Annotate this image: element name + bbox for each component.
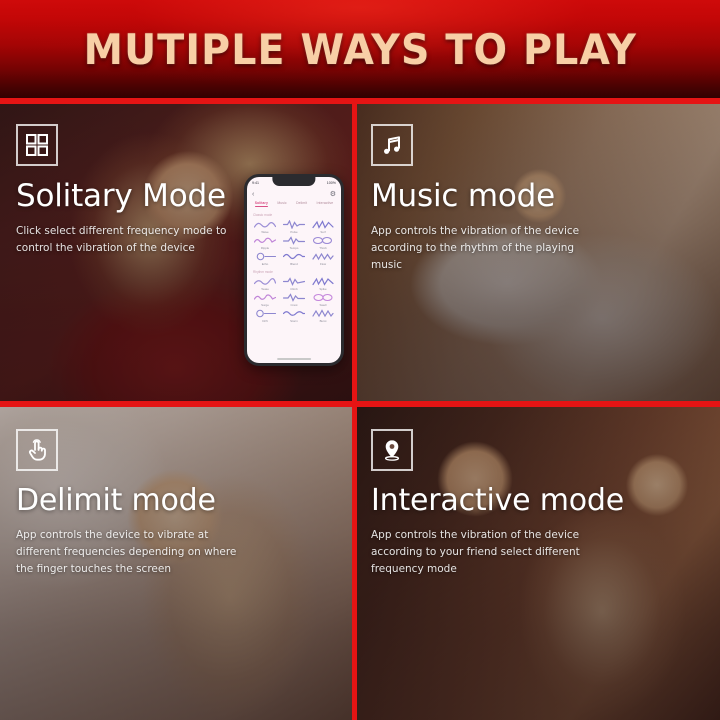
- wave-cell[interactable]: Surge: [251, 293, 279, 307]
- tile-title-music: Music mode: [371, 180, 606, 213]
- gear-icon[interactable]: ⚙: [330, 191, 336, 198]
- wave-cell[interactable]: Swell: [309, 293, 337, 307]
- tile-interactive-mode[interactable]: Interactive mode App controls the vibrat…: [357, 407, 720, 720]
- tab-delimit[interactable]: Delimit: [296, 201, 307, 207]
- tile-title-delimit: Delimit mode: [16, 485, 251, 517]
- home-indicator: [277, 358, 311, 360]
- wave-cell[interactable]: Surf: [309, 220, 337, 234]
- page-title: MUTIPLE WAYS TO PLAY: [83, 25, 636, 74]
- tile-title-interactive: Interactive mode: [371, 485, 606, 517]
- wave-cell[interactable]: Storm: [280, 309, 308, 323]
- wave-cell[interactable]: Throb: [309, 236, 337, 250]
- tab-bar-solitary: Solitary Music Delimit Interactive: [247, 201, 341, 210]
- music-note-icon: [371, 124, 413, 166]
- section-label-two: Rhythm mode: [247, 267, 341, 276]
- phone-screen-solitary: 9:41 100% ‹ ⚙ Solitary Music Delimit Int…: [247, 177, 341, 363]
- wave-cell[interactable]: Blend: [280, 252, 308, 266]
- tab-interactive[interactable]: Interactive: [317, 201, 334, 207]
- poster: MUTIPLE WAYS TO PLAY Solitary Mode Click…: [0, 0, 720, 720]
- tile-desc-solitary: Click select different frequency mode to…: [16, 223, 244, 257]
- tile-desc-delimit: App controls the device to vibrate at di…: [16, 527, 244, 578]
- tile-title-solitary: Solitary Mode: [16, 180, 251, 213]
- tile-music-mode[interactable]: Music mode App controls the vibration of…: [357, 104, 720, 401]
- wave-cell[interactable]: Spike: [309, 277, 337, 291]
- tile-content-music: Music mode App controls the vibration of…: [371, 124, 606, 274]
- tile-desc-music: App controls the vibration of the device…: [371, 223, 606, 274]
- phone-solitary: 9:41 100% ‹ ⚙ Solitary Music Delimit Int…: [244, 174, 344, 366]
- wave-cell[interactable]: Tease: [251, 277, 279, 291]
- wave-cell[interactable]: Drift: [251, 309, 279, 323]
- wave-cell[interactable]: Pulse: [280, 220, 308, 234]
- wave-cell[interactable]: Wave: [251, 220, 279, 234]
- wave-grid-one: Wave Pulse Surf Ripple Tempo Throb Echo …: [247, 219, 341, 267]
- chevron-left-icon[interactable]: ‹: [252, 191, 254, 198]
- tile-desc-interactive: App controls the vibration of the device…: [371, 527, 599, 578]
- grid-four-squares-icon: [16, 124, 58, 166]
- tile-delimit-mode[interactable]: Delimit mode App controls the device to …: [0, 407, 352, 720]
- app-navbar: ‹ ⚙: [247, 188, 341, 201]
- wave-grid-two: Tease Climb Spike Surge Crest Swell Drif…: [247, 276, 341, 324]
- tab-solitary[interactable]: Solitary: [255, 201, 268, 207]
- app-solitary: 9:41 100% ‹ ⚙ Solitary Music Delimit Int…: [247, 177, 341, 363]
- tile-content-solitary: Solitary Mode Click select different fre…: [16, 124, 251, 257]
- tile-content-interactive: Interactive mode App controls the vibrat…: [371, 429, 606, 578]
- location-pin-icon: [371, 429, 413, 471]
- header-banner: MUTIPLE WAYS TO PLAY: [0, 0, 720, 98]
- section-label-one: Classic mode: [247, 210, 341, 219]
- wave-cell[interactable]: Crest: [280, 293, 308, 307]
- status-battery: 100%: [327, 181, 336, 185]
- tile-content-delimit: Delimit mode App controls the device to …: [16, 429, 251, 578]
- wave-cell[interactable]: Ripple: [251, 236, 279, 250]
- phone-notch: [272, 177, 315, 186]
- tap-hand-icon: [16, 429, 58, 471]
- wave-cell[interactable]: Flow: [309, 252, 337, 266]
- tab-music[interactable]: Music: [277, 201, 286, 207]
- wave-cell[interactable]: Echo: [251, 252, 279, 266]
- status-time: 9:41: [252, 181, 259, 185]
- mode-grid: Solitary Mode Click select different fre…: [0, 98, 720, 720]
- wave-cell[interactable]: Climb: [280, 277, 308, 291]
- wave-cell[interactable]: Burst: [309, 309, 337, 323]
- wave-cell[interactable]: Tempo: [280, 236, 308, 250]
- tile-solitary-mode[interactable]: Solitary Mode Click select different fre…: [0, 104, 352, 401]
